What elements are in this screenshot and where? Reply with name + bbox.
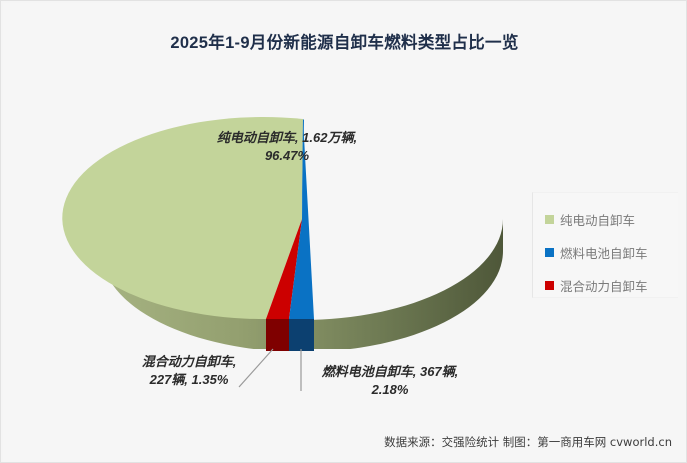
source-footer: 数据来源：交强险统计 制图：第一商用车网 cvworld.cn — [384, 434, 672, 450]
chart-screenshot: 2025年1-9月份新能源自卸车燃料类型占比一览 — [0, 0, 687, 463]
legend-label-phev: 混合动力自卸车 — [560, 276, 648, 295]
data-label-bev: 纯电动自卸车, 1.62万辆, 96.47% — [187, 129, 387, 164]
legend-swatch-icon-fcev — [545, 248, 554, 257]
data-label-fcev-line1: 燃料电池自卸车, 367辆, — [322, 364, 459, 379]
data-label-fcev: 燃料电池自卸车, 367辆, 2.18% — [295, 363, 485, 398]
data-label-bev-line2: 96.47% — [265, 148, 309, 163]
legend-swatch-icon-bev — [545, 215, 554, 224]
legend-label-bev: 纯电动自卸车 — [560, 210, 635, 229]
data-label-bev-line1: 纯电动自卸车, 1.62万辆, — [217, 130, 357, 145]
data-label-phev-line1: 混合动力自卸车, — [142, 354, 237, 369]
legend-swatch-icon-phev — [545, 281, 554, 290]
legend-item-fcev[interactable]: 燃料电池自卸车 — [533, 239, 678, 266]
data-label-fcev-line2: 2.18% — [372, 382, 409, 397]
legend-label-fcev: 燃料电池自卸车 — [560, 243, 648, 262]
data-label-phev-line2: 227辆, 1.35% — [150, 372, 229, 387]
chart-legend: 纯电动自卸车 燃料电池自卸车 混合动力自卸车 — [532, 192, 678, 298]
data-label-phev: 混合动力自卸车, 227辆, 1.35% — [109, 353, 269, 388]
pie-slice-side-phev — [266, 319, 289, 351]
legend-item-phev[interactable]: 混合动力自卸车 — [533, 272, 678, 299]
pie-slice-side-fcev — [289, 319, 314, 351]
legend-item-bev[interactable]: 纯电动自卸车 — [533, 206, 678, 233]
